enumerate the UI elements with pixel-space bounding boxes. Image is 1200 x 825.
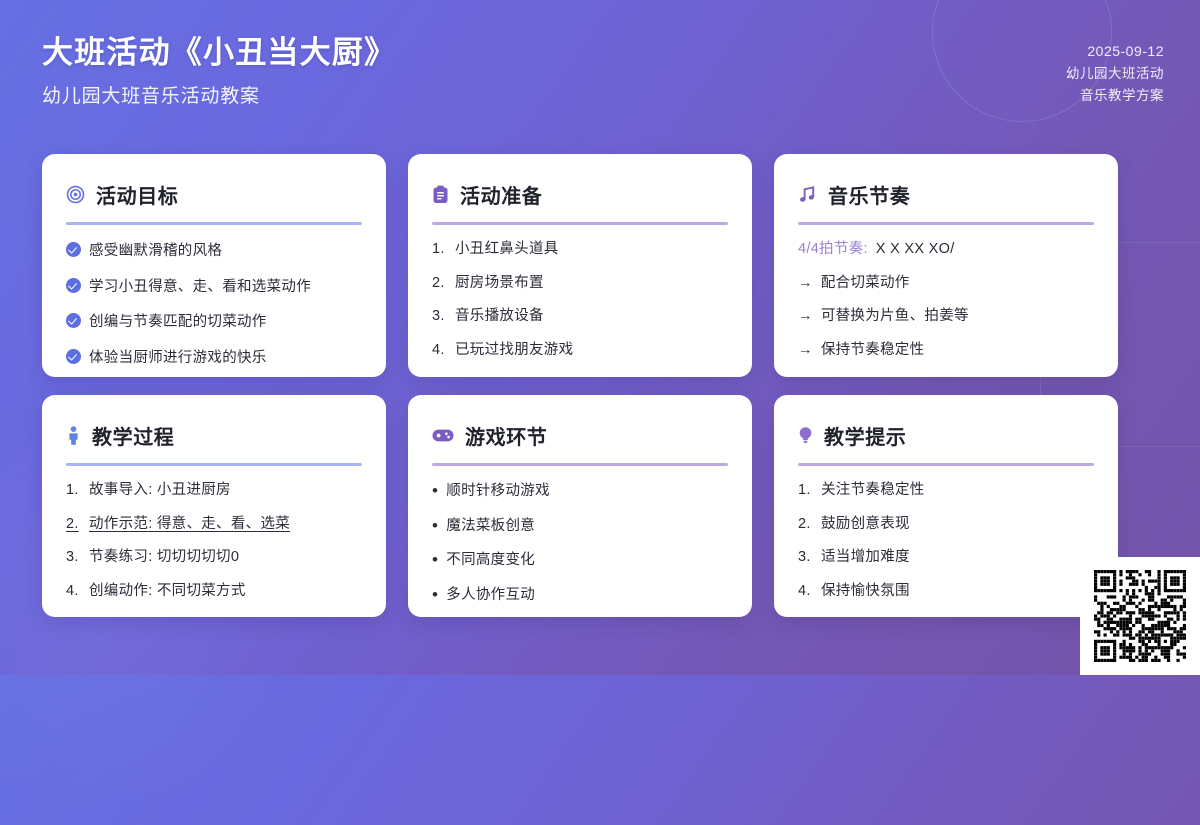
list-item-text: 学习小丑得意、走、看和选菜动作 (89, 278, 311, 298)
list-item-marker: → (798, 274, 813, 294)
list-item-marker: • (432, 551, 438, 568)
list-item-text: 可替换为片鱼、拍姜等 (821, 307, 969, 327)
card-header: 活动目标 (66, 180, 362, 209)
card-activity-goals[interactable]: 活动目标 感受幽默滑稽的风格 学习小丑得意、走、看和选菜动作 创编与节奏匹配的切… (42, 154, 386, 377)
card-title: 游戏环节 (465, 421, 547, 450)
list-item-text: 保持愉快氛围 (821, 582, 910, 602)
list-item-marker: • (432, 517, 438, 534)
list-item: → 配合切菜动作 (798, 274, 1094, 294)
card-divider (798, 222, 1094, 225)
list-item-text: 节奏练习: 切切切切切0 (89, 548, 239, 568)
clipboard-icon (432, 185, 449, 204)
check-icon (66, 313, 81, 328)
list-item: 4. 已玩过找朋友游戏 (432, 341, 728, 361)
list-item-marker: → (798, 307, 813, 327)
card-title: 活动准备 (460, 180, 542, 209)
list-item-text: 厨房场景布置 (455, 274, 544, 294)
card-divider (798, 463, 1094, 466)
card-teaching-tips[interactable]: 教学提示 1. 关注节奏稳定性 2. 鼓励创意表现 3. 适当增加难度 4. 保… (774, 395, 1118, 617)
list-item-marker: • (432, 586, 438, 603)
list-item: 感受幽默滑稽的风格 (66, 240, 362, 262)
list-item: 2. 鼓励创意表现 (798, 515, 1094, 535)
header-meta-line-2: 音乐教学方案 (1066, 85, 1164, 107)
target-icon (66, 185, 85, 204)
list-item: 1. 关注节奏稳定性 (798, 481, 1094, 501)
list-item-marker: 1. (66, 481, 81, 501)
card-items: 1. 关注节奏稳定性 2. 鼓励创意表现 3. 适当增加难度 4. 保持愉快氛围 (798, 481, 1094, 601)
list-item: 体验当厨师进行游戏的快乐 (66, 347, 362, 369)
card-title: 教学过程 (92, 421, 174, 450)
list-item: 4. 保持愉快氛围 (798, 582, 1094, 602)
list-item-text: 体验当厨师进行游戏的快乐 (89, 349, 267, 369)
lightbulb-icon (798, 426, 813, 445)
gamepad-icon (432, 428, 454, 443)
title-block: 大班活动《小丑当大厨》 幼儿园大班音乐活动教案 (42, 34, 396, 108)
list-item-text: 感受幽默滑稽的风格 (89, 242, 222, 262)
list-item-marker: 4. (432, 341, 447, 361)
card-header: 教学过程 (66, 421, 362, 450)
check-icon (66, 242, 81, 257)
list-item-text: 不同高度变化 (446, 551, 535, 571)
list-item-text: 创编与节奏匹配的切菜动作 (89, 313, 267, 333)
list-item-marker: 2. (798, 515, 813, 535)
card-title: 活动目标 (96, 180, 178, 209)
card-header: 音乐节奏 (798, 180, 1094, 209)
page-title: 大班活动《小丑当大厨》 (42, 34, 396, 73)
list-item-text: 适当增加难度 (821, 548, 910, 568)
list-item-text: : 得意、走、看、选菜 (148, 515, 290, 535)
list-item-text: 鼓励创意表现 (821, 515, 910, 535)
list-item-text: 故事导入: 小丑进厨房 (89, 481, 231, 501)
card-game-session[interactable]: 游戏环节 • 顺时针移动游戏 • 魔法菜板创意 • 不同高度变化 • 多人协作互… (408, 395, 752, 617)
list-item: 2. 动作示范 : 得意、走、看、选菜 (66, 515, 362, 535)
header-meta: 2025-09-12 幼儿园大班活动 音乐教学方案 (1066, 34, 1164, 106)
rhythm-label: 4/4拍节奏: (798, 240, 868, 260)
list-item: → 保持节奏稳定性 (798, 341, 1094, 361)
list-item-text: 小丑红鼻头道具 (455, 240, 559, 260)
card-header: 活动准备 (432, 180, 728, 209)
list-item: 3. 音乐播放设备 (432, 307, 728, 327)
list-item: 3. 节奏练习: 切切切切切0 (66, 548, 362, 568)
card-activity-preparation[interactable]: 活动准备 1. 小丑红鼻头道具 2. 厨房场景布置 3. 音乐播放设备 4. 已… (408, 154, 752, 377)
list-item: → 可替换为片鱼、拍姜等 (798, 307, 1094, 327)
card-teaching-process[interactable]: 教学过程 1. 故事导入: 小丑进厨房 2. 动作示范 : 得意、走、看、选菜 … (42, 395, 386, 617)
card-divider (432, 463, 728, 466)
list-item-marker: 1. (432, 240, 447, 260)
list-item-marker: 3. (432, 307, 447, 327)
card-items: 感受幽默滑稽的风格 学习小丑得意、走、看和选菜动作 创编与节奏匹配的切菜动作 体… (66, 240, 362, 368)
list-item: • 魔法菜板创意 (432, 516, 728, 537)
list-item: 3. 适当增加难度 (798, 548, 1094, 568)
list-item-text: 已玩过找朋友游戏 (455, 341, 573, 361)
list-item-marker: 3. (798, 548, 813, 568)
list-item: 创编与节奏匹配的切菜动作 (66, 311, 362, 333)
card-items: 4/4拍节奏: X X XX XO/ → 配合切菜动作 → 可替换为片鱼、拍姜等… (798, 240, 1094, 360)
list-item-marker: • (432, 482, 438, 499)
list-item-marker: 4. (798, 582, 813, 602)
check-icon (66, 278, 81, 293)
card-divider (66, 463, 362, 466)
card-header: 游戏环节 (432, 421, 728, 450)
list-item-text: X X XX XO/ (876, 240, 955, 260)
card-grid: 活动目标 感受幽默滑稽的风格 学习小丑得意、走、看和选菜动作 创编与节奏匹配的切… (42, 154, 1118, 617)
qr-code-panel[interactable] (1080, 557, 1200, 675)
list-item: 1. 小丑红鼻头道具 (432, 240, 728, 260)
list-item: 4. 创编动作: 不同切菜方式 (66, 582, 362, 602)
list-item-emphasis: 动作示范 (89, 515, 148, 535)
card-title: 音乐节奏 (828, 180, 910, 209)
qr-code[interactable] (1094, 570, 1186, 662)
card-items: 1. 故事导入: 小丑进厨房 2. 动作示范 : 得意、走、看、选菜 3. 节奏… (66, 481, 362, 601)
list-item-text: 配合切菜动作 (821, 274, 910, 294)
list-item: 学习小丑得意、走、看和选菜动作 (66, 276, 362, 298)
list-item: 2. 厨房场景布置 (432, 274, 728, 294)
child-person-icon (66, 426, 81, 445)
list-item-text: 魔法菜板创意 (446, 517, 535, 537)
card-music-rhythm[interactable]: 音乐节奏 4/4拍节奏: X X XX XO/ → 配合切菜动作 → 可替换为片… (774, 154, 1118, 377)
list-item-text: 顺时针移动游戏 (446, 482, 550, 502)
card-items: • 顺时针移动游戏 • 魔法菜板创意 • 不同高度变化 • 多人协作互动 (432, 481, 728, 605)
header-meta-line-1: 幼儿园大班活动 (1066, 63, 1164, 85)
list-item-text: 创编动作: 不同切菜方式 (89, 582, 246, 602)
list-item: 4/4拍节奏: X X XX XO/ (798, 240, 1094, 260)
card-header: 教学提示 (798, 421, 1094, 450)
card-divider (432, 222, 728, 225)
list-item-text: 音乐播放设备 (455, 307, 544, 327)
list-item-marker: 2. (66, 515, 81, 535)
card-title: 教学提示 (824, 421, 906, 450)
list-item: • 多人协作互动 (432, 585, 728, 606)
list-item-marker: 2. (432, 274, 447, 294)
card-items: 1. 小丑红鼻头道具 2. 厨房场景布置 3. 音乐播放设备 4. 已玩过找朋友… (432, 240, 728, 360)
page-header: 大班活动《小丑当大厨》 幼儿园大班音乐活动教案 2025-09-12 幼儿园大班… (42, 34, 1164, 108)
card-divider (66, 222, 362, 225)
list-item-marker: 1. (798, 481, 813, 501)
check-icon (66, 349, 81, 364)
music-note-icon (798, 185, 817, 204)
list-item-text: 多人协作互动 (446, 586, 535, 606)
list-item-marker: 4. (66, 582, 81, 602)
list-item-text: 保持节奏稳定性 (821, 341, 925, 361)
list-item-text: 关注节奏稳定性 (821, 481, 925, 501)
list-item: • 顺时针移动游戏 (432, 481, 728, 502)
page-subtitle: 幼儿园大班音乐活动教案 (42, 81, 396, 108)
list-item-marker: → (798, 341, 813, 361)
list-item: 1. 故事导入: 小丑进厨房 (66, 481, 362, 501)
list-item-marker: 3. (66, 548, 81, 568)
list-item: • 不同高度变化 (432, 550, 728, 571)
header-date: 2025-09-12 (1066, 40, 1164, 63)
